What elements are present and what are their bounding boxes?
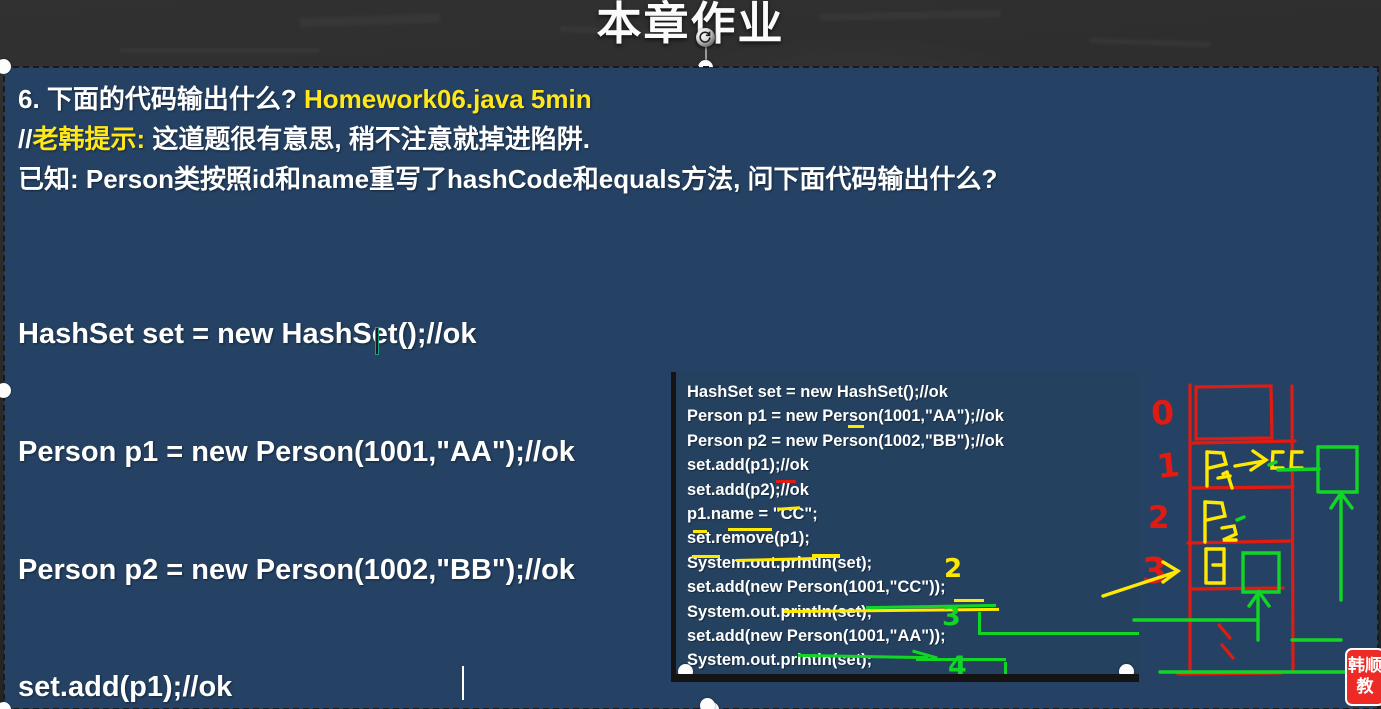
page-title: 本章作业 (0, 0, 1381, 50)
selection-handle-top-left[interactable] (0, 59, 11, 74)
selection-handle-bottom-left[interactable] (0, 702, 11, 709)
annotation-mark-2: 2 (944, 554, 962, 584)
rotate-handle-icon[interactable] (696, 28, 715, 47)
inset-code-line: HashSet set = new HashSet();//ok (687, 383, 948, 401)
hint-author-label: 老韩提示: (32, 124, 145, 154)
inset-code-line: Person p2 = new Person(1002,"BB");//ok (687, 432, 1004, 450)
selection-handle-bottom-inset-anchor[interactable] (700, 698, 715, 709)
inset-code-line: set.add(new Person(1001,"CC")); (687, 578, 946, 596)
text-insertion-caret (462, 666, 464, 700)
inset-code-line: set.add(p1);//ok (687, 456, 809, 474)
author-badge-line1: 韩顺 (1347, 655, 1381, 676)
inset-code-line: System.out.println(set); (687, 651, 872, 669)
ink-connector-green (1004, 662, 1007, 682)
author-badge-line2: 教 (1347, 676, 1381, 697)
inset-code-line: System.out.println(set); (687, 554, 872, 572)
inset-selection-handle-bottom-left[interactable] (678, 664, 693, 679)
inset-code-line: Person p1 = new Person(1001,"AA");//ok (687, 407, 1004, 425)
inset-code-line: set.remove(p1); (687, 529, 810, 547)
slide-canvas: 本章作业 6. 下面的代码输出什么? Homework06.java 5min … (0, 0, 1381, 709)
annotation-mark-4: 4 (948, 651, 967, 682)
author-badge: 韩顺 教 (1345, 648, 1381, 706)
ink-connector-green (1004, 681, 1139, 682)
question-heading-text: 6. 下面的代码输出什么? (18, 84, 304, 114)
code-line: HashSet set = new HashSet();//ok (18, 315, 1368, 354)
inset-selection-handle-bottom-right[interactable] (1119, 664, 1134, 679)
ink-underline-green (854, 679, 886, 682)
question-heading: 6. 下面的代码输出什么? Homework06.java 5min (18, 79, 1368, 119)
hint-comment-slashes: // (18, 124, 32, 154)
inset-code-line: set.add(new Person(1001,"AA")); (687, 627, 946, 645)
inset-annotated-screenshot[interactable]: HashSet set = new HashSet();//ok Person … (671, 372, 1139, 682)
selection-handle-middle-left[interactable] (0, 383, 11, 398)
given-condition-line: 已知: Person类按照id和name重写了hashCode和equals方法… (18, 159, 1368, 199)
inset-code-line: System.out.println(set); (687, 603, 872, 621)
text-cursor-icon (375, 327, 379, 355)
annotation-mark-3: 3 (942, 601, 961, 632)
question-file-label: Homework06.java 5min (304, 84, 592, 114)
inset-code-line: p1.name = "CC"; (687, 505, 818, 523)
hint-body-text: 这道题很有意思, 稍不注意就掉进陷阱. (145, 124, 590, 154)
hint-line: //老韩提示: 这道题很有意思, 稍不注意就掉进陷阱. (18, 119, 1368, 159)
inset-code-line: set.add(p2);//ok (687, 481, 809, 499)
